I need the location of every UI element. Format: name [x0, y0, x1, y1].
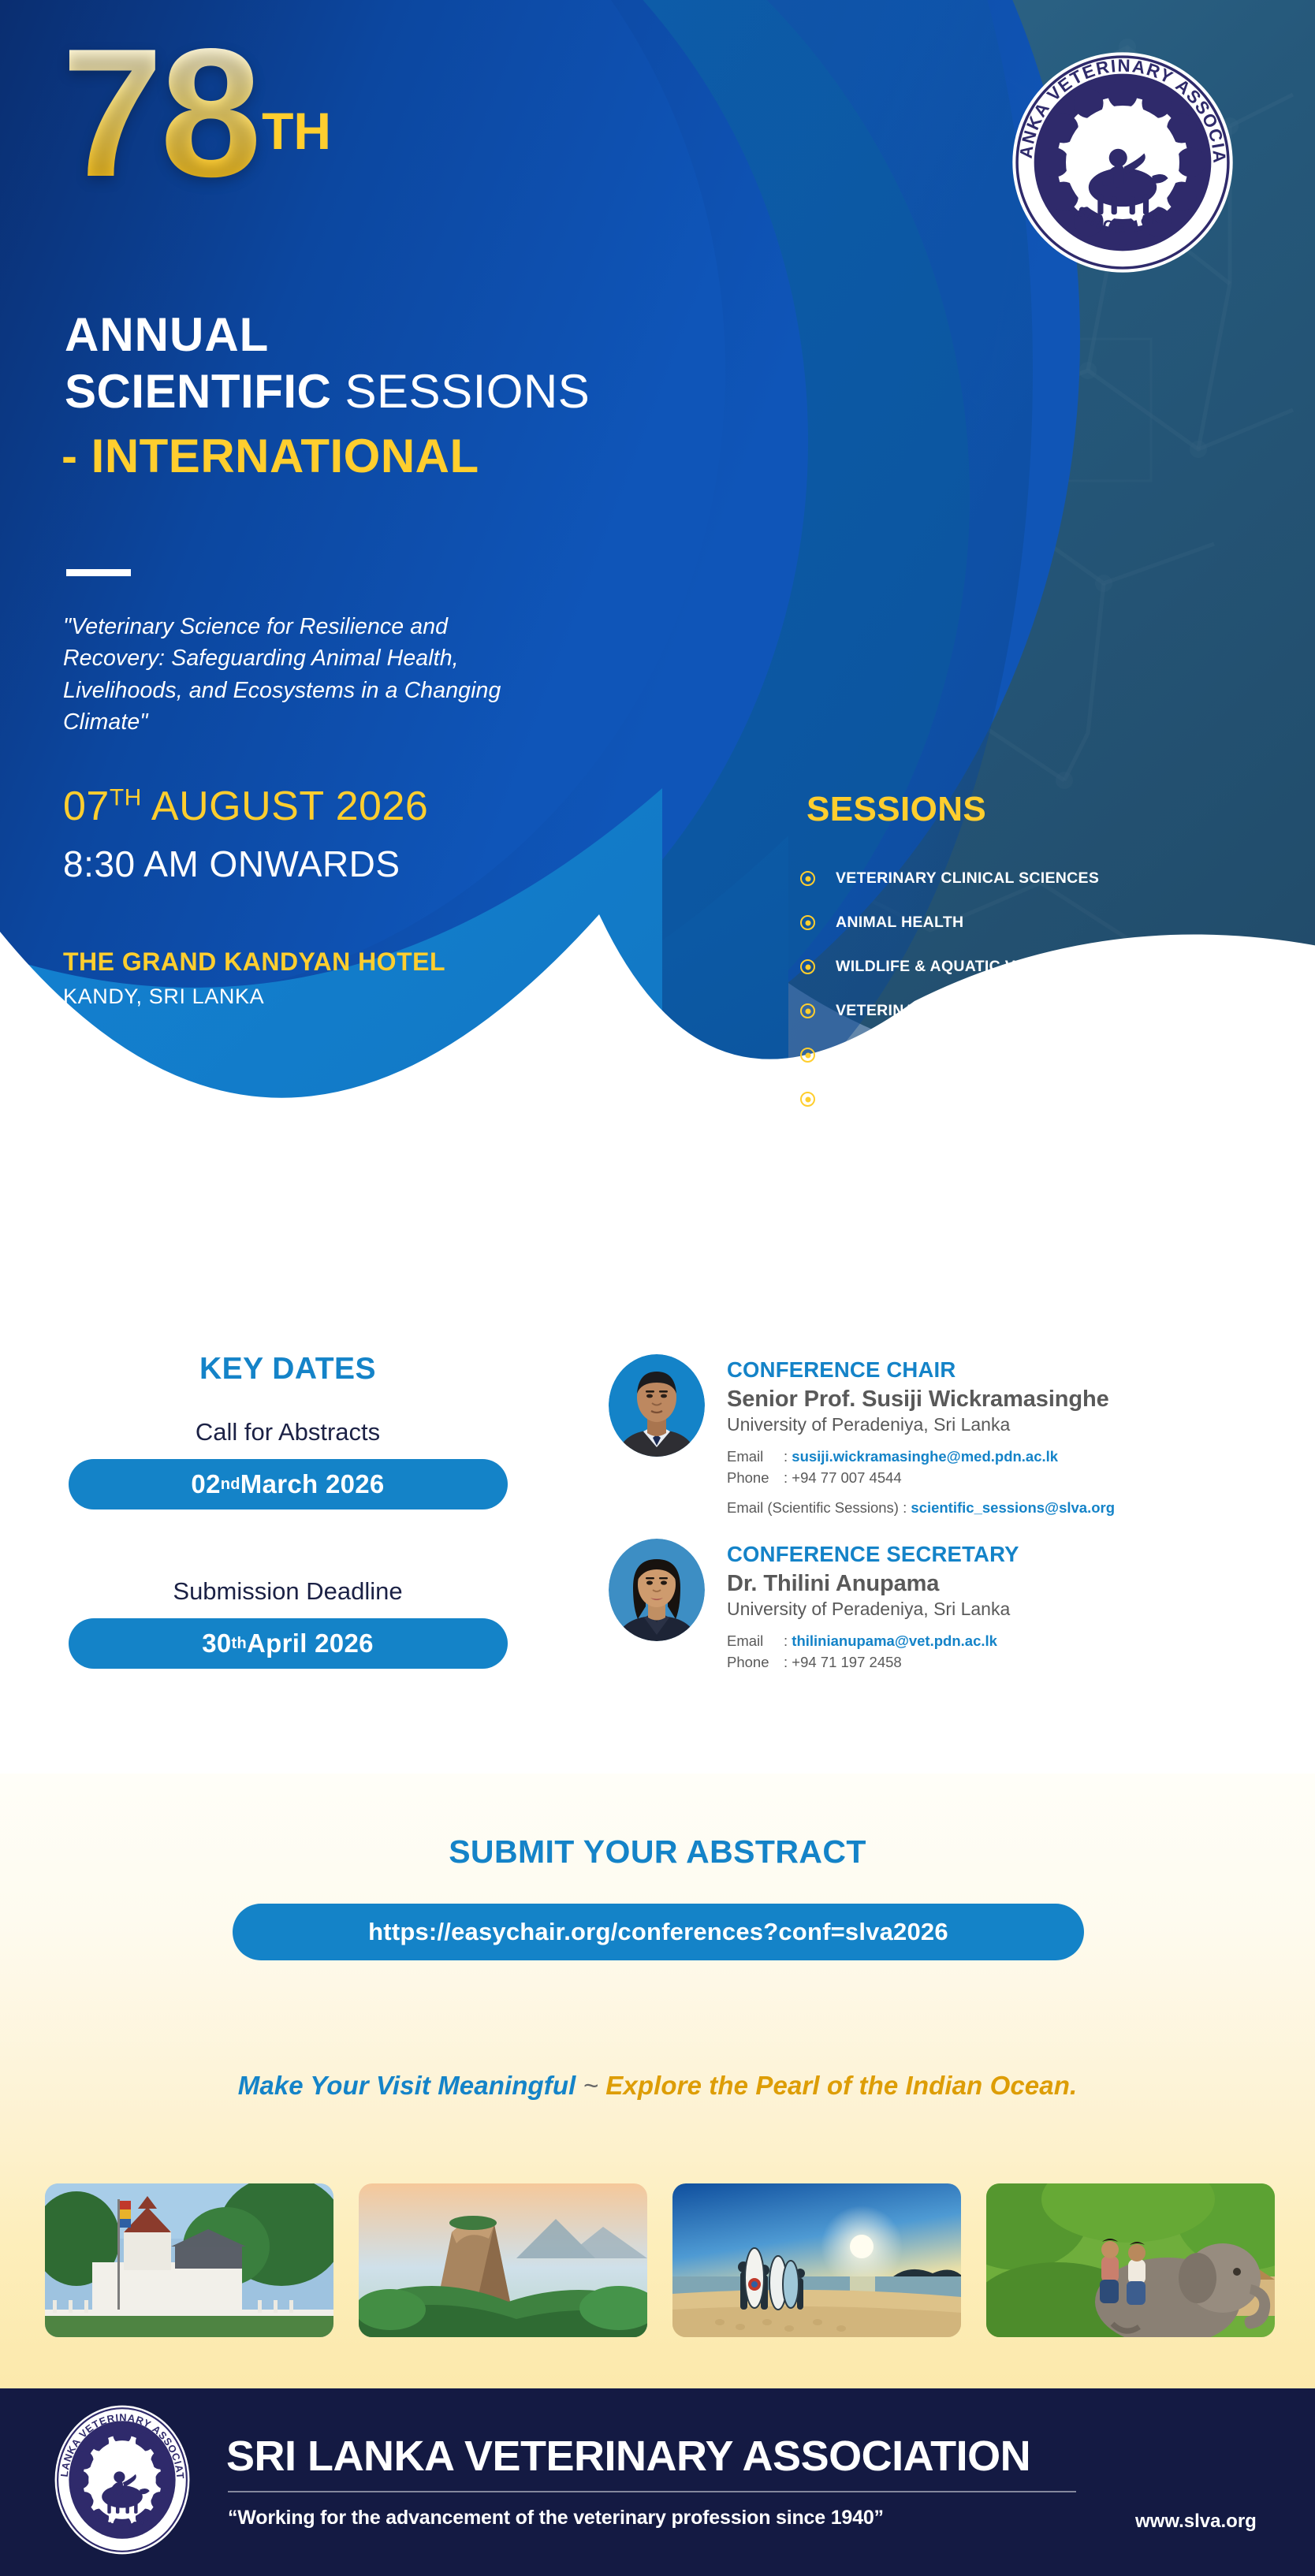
slva-seal-icon: SRI LANKA VETERINARY ASSOCIATION SINCE 1…: [1009, 49, 1236, 276]
contact-role: CONFERENCE CHAIR: [727, 1357, 1115, 1383]
contact-info: CONFERENCE SECRETARY Dr. Thilini Anupama…: [727, 1539, 1019, 1673]
bullet-target-icon: [800, 959, 815, 974]
edition-number: 78: [61, 33, 259, 194]
edition-ordinal: TH: [262, 101, 331, 161]
sessions-title: SESSIONS: [807, 790, 986, 829]
explore-part-b: Explore the Pearl of the Indian Ocean.: [605, 2071, 1077, 2100]
contact-info: CONFERENCE CHAIR Senior Prof. Susiji Wic…: [727, 1354, 1115, 1517]
contact-affiliation: University of Peradeniya, Sri Lanka: [727, 1414, 1115, 1435]
contact-phone-row: Phone: +94 77 007 4544: [727, 1467, 1115, 1488]
venue-name: THE GRAND KANDYAN HOTEL: [63, 947, 445, 977]
event-time: 8:30 AM ONWARDS: [63, 843, 400, 885]
contact-phone-row: Phone: +94 71 197 2458: [727, 1651, 1019, 1673]
key-date-rest: April 2026: [247, 1629, 374, 1658]
email-value[interactable]: thilinianupama@vet.pdn.ac.lk: [792, 1632, 997, 1649]
hero-section: 78 TH ANNUAL SCIENTIFIC SESSIONS - INTER…: [0, 0, 1315, 1230]
session-item: ANIMAL PRODUCTION: [800, 1039, 1289, 1071]
contact-conference-secretary: CONFERENCE SECRETARY Dr. Thilini Anupama…: [609, 1539, 1287, 1673]
edition-number-block: 78 TH: [61, 33, 331, 194]
session-item: WILDLIFE & AQUATIC VETERINARY MEDICINE: [800, 951, 1289, 983]
avatar: [609, 1539, 705, 1641]
key-dates-section: KEY DATES Call for Abstracts 02nd March …: [43, 1352, 532, 1669]
temple-of-the-tooth-kandy-photo: [45, 2183, 333, 2337]
email-value[interactable]: susiji.wickramasinghe@med.pdn.ac.lk: [792, 1448, 1058, 1465]
submit-abstract-title: SUBMIT YOUR ABSTRACT: [0, 1833, 1315, 1871]
session-item: VETERINARY CLINICAL SCIENCES: [800, 862, 1289, 895]
bullet-target-icon: [800, 1003, 815, 1018]
title-line-annual: ANNUAL: [65, 307, 269, 362]
slva-seal-icon: SRI LANKA VETERINARY ASSOCIATION SINCE 1…: [52, 2401, 192, 2559]
contact-name: Senior Prof. Susiji Wickramasinghe: [727, 1387, 1115, 1413]
footer: SRI LANKA VETERINARY ASSOCIATION SINCE 1…: [0, 2388, 1315, 2576]
explore-tagline: Make Your Visit Meaningful ~ Explore the…: [0, 2071, 1315, 2101]
conference-secretary-portrait: [609, 1539, 705, 1641]
footer-org-name: SRI LANKA VETERINARY ASSOCIATION: [226, 2432, 1030, 2481]
bullet-target-icon: [800, 1048, 815, 1063]
contact-details: Email: susiji.wickramasinghe@med.pdn.ac.…: [727, 1446, 1115, 1489]
event-date-rest: AUGUST 2026: [142, 784, 428, 829]
phone-value: +94 77 007 4544: [792, 1469, 901, 1486]
photo-card: [986, 2183, 1275, 2337]
contact-affiliation: University of Peradeniya, Sri Lanka: [727, 1599, 1019, 1620]
session-label: ANIMAL HEALTH: [836, 914, 963, 932]
session-label: WILDLIFE & AQUATIC VETERINARY MEDICINE: [836, 958, 1187, 976]
phone-label: Phone: [727, 1467, 784, 1488]
title-scientific: SCIENTIFIC: [65, 365, 331, 418]
session-label: VETERINARY EDUCATIONAL RESEARCH: [836, 1090, 1146, 1108]
key-date-pill[interactable]: 02nd March 2026: [69, 1459, 508, 1509]
submit-url-button[interactable]: https://easychair.org/conferences?conf=s…: [233, 1904, 1084, 1960]
session-item: ANIMAL HEALTH: [800, 906, 1289, 939]
title-divider-rule: [66, 569, 131, 576]
key-date-day-suffix: th: [232, 1635, 247, 1653]
photo-card: [672, 2183, 961, 2337]
elephant-ride-photo: [986, 2183, 1275, 2337]
phone-label: Phone: [727, 1651, 784, 1673]
key-date-day-suffix: nd: [221, 1476, 240, 1494]
contact-email-row: Email: thilinianupama@vet.pdn.ac.lk: [727, 1630, 1019, 1651]
key-date-label: Call for Abstracts: [43, 1418, 532, 1446]
key-date-rest: March 2026: [240, 1469, 385, 1499]
venue-city: KANDY, SRI LANKA: [63, 985, 264, 1009]
contact-email-row: Email: susiji.wickramasinghe@med.pdn.ac.…: [727, 1446, 1115, 1467]
contacts-section: CONFERENCE CHAIR Senior Prof. Susiji Wic…: [609, 1354, 1287, 1696]
bullet-target-icon: [800, 915, 815, 930]
contact-details: Email: thilinianupama@vet.pdn.ac.lk Phon…: [727, 1630, 1019, 1673]
title-sessions: SESSIONS: [331, 365, 590, 418]
hero-content: 78 TH ANNUAL SCIENTIFIC SESSIONS - INTER…: [0, 0, 1315, 1151]
submit-url-text: https://easychair.org/conferences?conf=s…: [368, 1918, 948, 1946]
avatar: [609, 1354, 705, 1457]
key-date-day: 02: [191, 1469, 220, 1499]
scientific-email-label: Email (Scientific Sessions) :: [727, 1499, 907, 1516]
event-date-day-suffix: TH: [110, 785, 142, 811]
conference-theme: "Veterinary Science for Resilience and R…: [63, 611, 536, 739]
key-date-label: Submission Deadline: [43, 1577, 532, 1606]
bullet-target-icon: [800, 1092, 815, 1107]
event-date: 07TH AUGUST 2026: [63, 783, 428, 830]
contact-name: Dr. Thilini Anupama: [727, 1571, 1019, 1597]
sigiriya-rock-fortress-photo: [359, 2183, 647, 2337]
conference-chair-portrait: [609, 1354, 705, 1457]
email-label: Email: [727, 1446, 784, 1467]
key-date-pill[interactable]: 30th April 2026: [69, 1618, 508, 1669]
sessions-list: VETERINARY CLINICAL SCIENCES ANIMAL HEAL…: [800, 862, 1289, 1127]
contact-conference-chair: CONFERENCE CHAIR Senior Prof. Susiji Wic…: [609, 1354, 1287, 1517]
bullet-target-icon: [800, 871, 815, 886]
conference-poster: 78 TH ANNUAL SCIENTIFIC SESSIONS - INTER…: [0, 0, 1315, 2576]
phone-value: +94 71 197 2458: [792, 1654, 901, 1670]
key-date-day: 30: [202, 1629, 231, 1658]
footer-website[interactable]: www.slva.org: [1135, 2511, 1257, 2533]
email-label: Email: [727, 1630, 784, 1651]
session-item: VETERINARY PUBLIC HEALTH: [800, 995, 1289, 1027]
event-date-day: 07: [63, 784, 110, 829]
title-line-international: - INTERNATIONAL: [61, 429, 479, 483]
session-label: VETERINARY PUBLIC HEALTH: [836, 1002, 1067, 1020]
key-dates-title: KEY DATES: [43, 1352, 532, 1387]
photo-card: [45, 2183, 333, 2337]
scientific-email-value[interactable]: scientific_sessions@slva.org: [911, 1499, 1115, 1516]
surfers-at-beach-sunset-photo: [672, 2183, 961, 2337]
session-item: VETERINARY EDUCATIONAL RESEARCH: [800, 1083, 1289, 1115]
scientific-sessions-email-row: Email (Scientific Sessions) : scientific…: [727, 1499, 1115, 1517]
session-label: ANIMAL PRODUCTION: [836, 1046, 1007, 1064]
footer-tagline: “Working for the advancement of the vete…: [228, 2507, 884, 2529]
contact-role: CONFERENCE SECRETARY: [727, 1542, 1019, 1567]
destination-photo-strip: [45, 2183, 1275, 2337]
spacer: [43, 1509, 532, 1546]
explore-tilde: ~: [576, 2071, 605, 2100]
title-line-scientific-sessions: SCIENTIFIC SESSIONS: [65, 364, 590, 419]
footer-divider: [228, 2491, 1076, 2492]
session-label: VETERINARY CLINICAL SCIENCES: [836, 869, 1099, 888]
explore-part-a: Make Your Visit Meaningful: [238, 2071, 576, 2100]
photo-card: [359, 2183, 647, 2337]
